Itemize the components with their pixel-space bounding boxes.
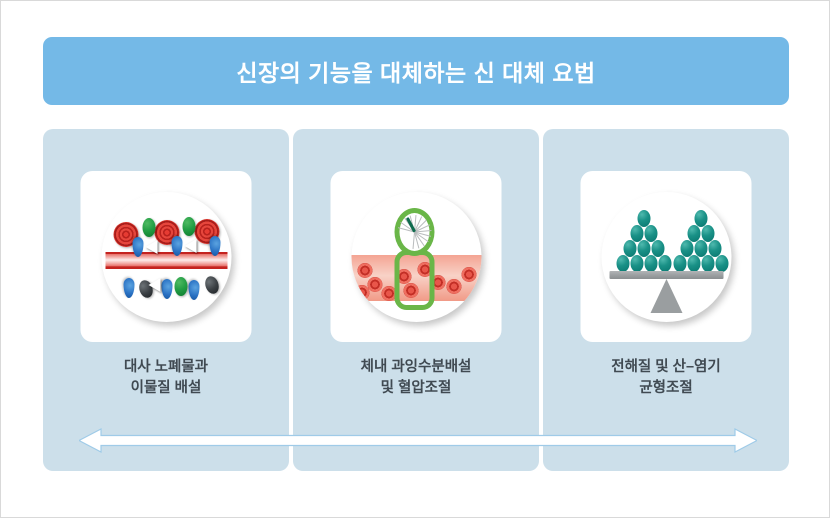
electrolyte-sphere: [630, 255, 643, 272]
panel-caption-electrolyte: 전해질 및 산–염기 균형조절: [543, 357, 789, 399]
icon-card-balance: [581, 171, 752, 342]
waste-particle: [203, 274, 221, 295]
panel-row: 대사 노폐물과 이물질 배설: [43, 129, 789, 471]
electrolyte-sphere: [701, 255, 714, 272]
caption-line-2: 균형조절: [543, 378, 789, 399]
caption-line-1: 전해질 및 산–염기: [543, 357, 789, 378]
balance-scale-icon: [601, 192, 731, 322]
panel-caption-waste-excretion: 대사 노폐물과 이물질 배설: [43, 357, 289, 399]
water-droplet: [188, 280, 199, 300]
caption-line-1: 대사 노폐물과: [43, 357, 289, 378]
page-title: 신장의 기능을 대체하는 신 대체 요법: [236, 54, 595, 88]
red-blood-cell: [354, 285, 369, 300]
title-bar: 신장의 기능을 대체하는 신 대체 요법: [43, 37, 789, 105]
pressure-gauge: [394, 208, 434, 256]
balance-fulcrum: [650, 279, 682, 313]
electrolyte-sphere: [715, 255, 728, 272]
electrolyte-sphere: [616, 255, 629, 272]
water-droplet: [161, 279, 172, 299]
blood-pressure-cuff-icon: [351, 192, 481, 322]
panel-waste-excretion[interactable]: 대사 노폐물과 이물질 배설: [43, 129, 289, 471]
electrolyte-sphere: [673, 255, 686, 272]
water-droplet: [132, 237, 143, 257]
icon-card-waste-excretion: [81, 171, 252, 342]
green-particle: [182, 217, 195, 236]
flow-arrow-icon: [145, 240, 157, 254]
water-droplet: [171, 236, 182, 256]
double-headed-arrow: [79, 428, 757, 453]
filtration-membrane-icon: [101, 192, 231, 322]
red-blood-cell: [461, 267, 476, 282]
electrolyte-sphere: [644, 255, 657, 272]
membrane-band: [105, 252, 227, 269]
caption-line-2: 이물질 배설: [43, 378, 289, 399]
water-droplet: [123, 278, 134, 298]
pressure-cuff: [394, 250, 434, 310]
gauge-tick: [412, 231, 414, 248]
green-particle: [174, 277, 187, 296]
flow-arrow-icon: [184, 239, 196, 253]
red-blood-cell: [446, 279, 461, 294]
panel-fluid-blood-pressure[interactable]: 체내 과잉수분배설 및 혈압조절: [293, 129, 539, 471]
water-droplet: [209, 236, 220, 256]
infographic-canvas: 신장의 기능을 대체하는 신 대체 요법: [0, 0, 830, 518]
electrolyte-sphere: [658, 255, 671, 272]
panel-caption-blood-pressure: 체내 과잉수분배설 및 혈압조절: [293, 357, 539, 399]
caption-line-2: 및 혈압조절: [293, 378, 539, 399]
green-particle: [142, 218, 155, 237]
icon-card-blood-pressure: [331, 171, 502, 342]
panel-electrolyte-acid-base[interactable]: 전해질 및 산–염기 균형조절: [543, 129, 789, 471]
flow-arrow-icon: [148, 278, 160, 292]
arrow-shape: [79, 429, 757, 452]
balance-beam: [609, 271, 723, 279]
electrolyte-sphere: [687, 255, 700, 272]
caption-line-1: 체내 과잉수분배설: [293, 357, 539, 378]
red-blood-cell: [357, 263, 372, 278]
red-blood-cell: [367, 277, 382, 292]
